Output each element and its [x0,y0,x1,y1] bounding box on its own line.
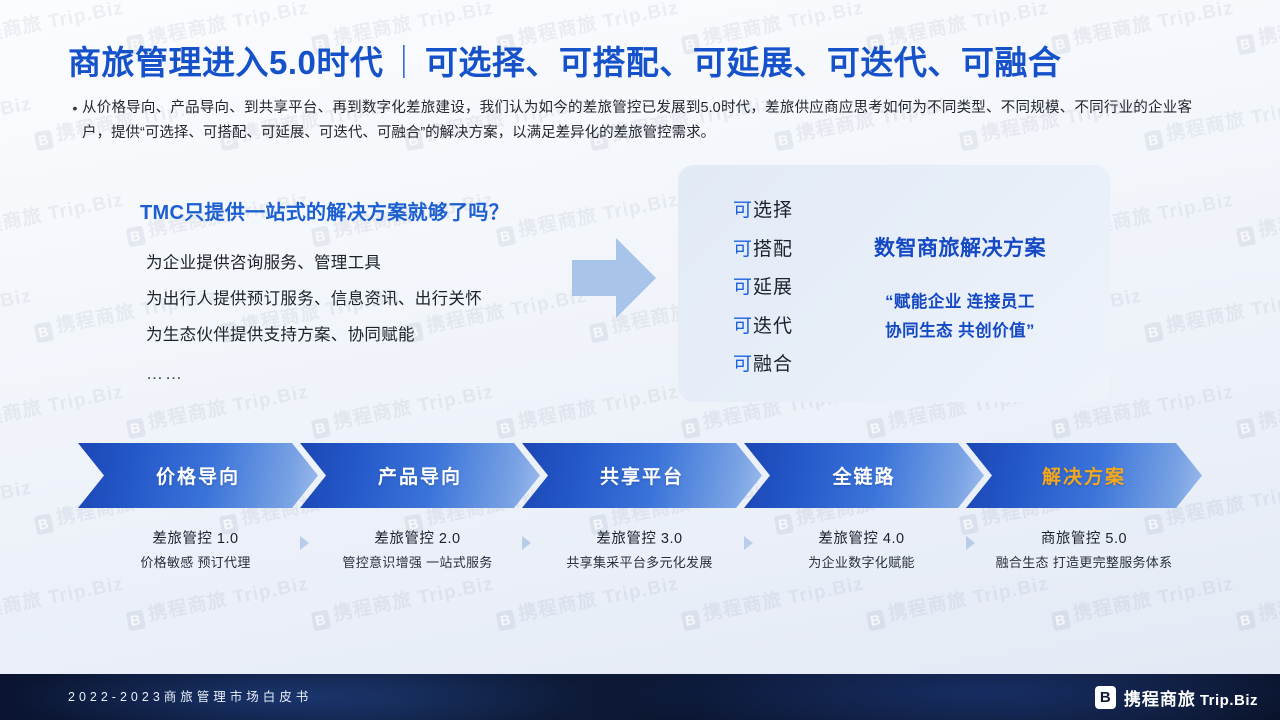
timeline-stage-label: 全链路 [832,462,895,489]
timeline-stage-label: 价格导向 [156,462,240,489]
brand-name-en: Trip.Biz [1200,692,1258,709]
title-main: 商旅管理进入5.0时代 [68,44,383,81]
list-item-capability: 可搭配 [733,231,793,270]
page-title: 商旅管理进入5.0时代｜可选择、可搭配、可延展、可迭代、可融合 [68,36,1061,84]
capability-word: 延展 [753,277,793,298]
lead-paragraph-wrap: • 从价格导向、产品导向、到共享平台、再到数字化差旅建设，我们认为如今的差旅管控… [68,96,1192,146]
list-item-capability: 可选择 [733,192,793,231]
list-item: 为出行人提供预订服务、信息资讯、出行关怀 [146,281,482,317]
caption-title: 商旅管控 5.0 [966,528,1202,551]
list-item-capability: 可融合 [733,346,793,385]
brand-logo-icon: B [1095,686,1116,709]
solution-slogan: “赋能企业 连接员工 协同生态 共创价值” [845,288,1075,346]
timeline-caption-2: 差旅管控 2.0 管控意识增强 一站式服务 [300,528,535,575]
timeline-chevrons: 价格导向 产品导向 共享平台 全链路 解决方案 [78,443,1202,508]
brand-name-cn: 携程商旅 [1124,690,1196,709]
timeline-caption-1: 差旅管控 1.0 价格敏感 预订代理 [78,528,313,575]
list-item: 为生态伙伴提供支持方案、协同赋能 [146,317,482,353]
list-item-capability: 可迭代 [733,308,793,347]
timeline-stage-5[interactable]: 解决方案 [966,443,1202,508]
slogan-line-2: 协同生态 共创价值” [845,317,1075,346]
title-sub: 可选择、可搭配、可延展、可迭代、可融合 [425,44,1062,81]
caption-title: 差旅管控 3.0 [522,528,757,551]
lead-paragraph: 从价格导向、产品导向、到共享平台、再到数字化差旅建设，我们认为如今的差旅管控已发… [82,96,1192,146]
caption-desc: 融合生态 打造更完整服务体系 [966,551,1202,575]
timeline-stage-1[interactable]: 价格导向 [78,443,318,508]
caption-desc: 为企业数字化赋能 [744,551,979,575]
capability-prefix: 可 [733,316,753,337]
list-item-ellipsis: …… [146,353,482,395]
timeline-stage-label: 解决方案 [1042,462,1126,489]
capability-word: 选择 [753,200,793,221]
slide-content: 商旅管理进入5.0时代｜可选择、可搭配、可延展、可迭代、可融合 • 从价格导向、… [0,0,1280,720]
footer-document-title: 2022-2023商旅管理市场白皮书 [68,674,312,720]
list-item-capability: 可延展 [733,269,793,308]
timeline-caption-4: 差旅管控 4.0 为企业数字化赋能 [744,528,979,575]
right-arrow-icon [572,236,656,320]
capability-prefix: 可 [733,200,753,221]
solution-title: 数智商旅解决方案 [855,232,1065,262]
caption-desc: 共享集采平台多元化发展 [522,551,757,575]
timeline-captions: 差旅管控 1.0 价格敏感 预订代理 差旅管控 2.0 管控意识增强 一站式服务… [78,528,1202,590]
timeline-caption-5: 商旅管控 5.0 融合生态 打造更完整服务体系 [966,528,1202,575]
timeline-stage-2[interactable]: 产品导向 [300,443,540,508]
title-divider: ｜ [383,44,425,81]
footer-bar: 2022-2023商旅管理市场白皮书 B 携程商旅Trip.Biz [0,674,1280,720]
list-item: 为企业提供咨询服务、管理工具 [146,245,482,281]
caption-title: 差旅管控 1.0 [78,528,313,551]
footer-logo: B 携程商旅Trip.Biz [1095,674,1258,720]
capability-word: 迭代 [753,316,793,337]
capability-prefix: 可 [733,277,753,298]
capability-prefix: 可 [733,239,753,260]
slogan-line-1: “赋能企业 连接员工 [845,288,1075,317]
tmc-question: TMC只提供一站式的解决方案就够了吗？ [140,196,509,225]
timeline-caption-3: 差旅管控 3.0 共享集采平台多元化发展 [522,528,757,575]
caption-desc: 管控意识增强 一站式服务 [300,551,535,575]
capability-prefix: 可 [733,354,753,375]
caption-desc: 价格敏感 预订代理 [78,551,313,575]
tmc-service-list: 为企业提供咨询服务、管理工具 为出行人提供预订服务、信息资讯、出行关怀 为生态伙… [146,245,482,395]
timeline-stage-4[interactable]: 全链路 [744,443,984,508]
timeline-stage-label: 共享平台 [600,462,684,489]
capability-word: 搭配 [753,239,793,260]
caption-title: 差旅管控 2.0 [300,528,535,551]
brand-name: 携程商旅Trip.Biz [1124,685,1258,710]
capability-word: 融合 [753,354,793,375]
slide-root: B携程商旅 Trip.BizB携程商旅 Trip.BizB携程商旅 Trip.B… [0,0,1280,720]
timeline-stage-label: 产品导向 [378,462,462,489]
lead-bullet-icon: • [68,96,82,146]
timeline-stage-3[interactable]: 共享平台 [522,443,762,508]
caption-title: 差旅管控 4.0 [744,528,979,551]
capability-list: 可选择 可搭配 可延展 可迭代 可融合 [733,192,793,385]
